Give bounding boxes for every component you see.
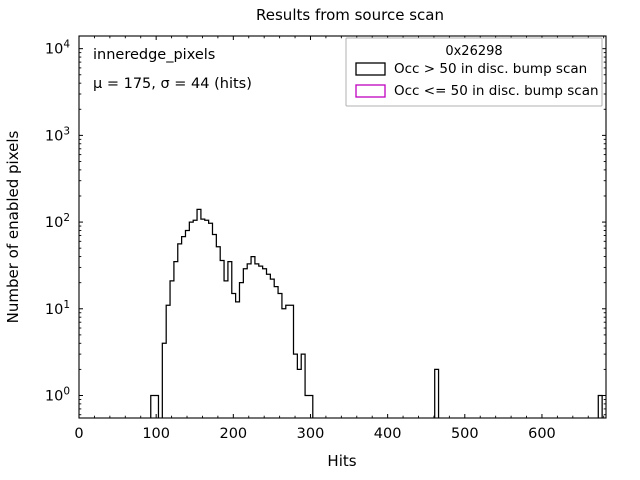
- y-tick-label: 104: [45, 39, 70, 58]
- x-axis-title: Hits: [327, 452, 356, 470]
- histogram-plot: Results from source scan 100101102103104…: [0, 0, 640, 480]
- x-tick-label: 500: [451, 426, 479, 442]
- histogram-series-layer: [151, 209, 602, 418]
- legend-label-occ-le-50: Occ <= 50 in disc. bump scan: [394, 83, 599, 99]
- y-axis-title: Number of enabled pixels: [4, 130, 22, 323]
- x-tick-label: 200: [219, 426, 247, 442]
- legend-swatch-occ-le-50: [356, 85, 385, 97]
- histogram-step-path: [435, 369, 439, 418]
- x-tick-label: 600: [528, 426, 556, 442]
- histogram-step-path: [151, 395, 159, 418]
- annotation-stats: μ = 175, σ = 44 (hits): [93, 76, 252, 92]
- histogram-step-path: [598, 395, 602, 418]
- x-tick-label: 300: [297, 426, 325, 442]
- figure-canvas: Results from source scan 100101102103104…: [0, 0, 640, 480]
- annotation-name: inneredge_pixels: [93, 47, 215, 63]
- x-tick-label: 0: [74, 426, 83, 442]
- y-tick-label: 101: [45, 299, 70, 318]
- y-tick-label: 100: [45, 385, 70, 404]
- legend-label-occ-gt-50: Occ > 50 in disc. bump scan: [394, 61, 587, 77]
- x-tick-label: 100: [142, 426, 170, 442]
- legend-swatch-occ-gt-50: [356, 63, 385, 75]
- y-tick-label: 103: [45, 125, 70, 144]
- legend-title: 0x26298: [445, 44, 502, 59]
- legend[interactable]: 0x26298 Occ > 50 in disc. bump scan Occ …: [346, 38, 602, 106]
- histogram-step-path: [162, 209, 312, 418]
- y-tick-label: 102: [45, 212, 70, 231]
- x-tick-label: 400: [374, 426, 402, 442]
- chart-title: Results from source scan: [256, 6, 444, 24]
